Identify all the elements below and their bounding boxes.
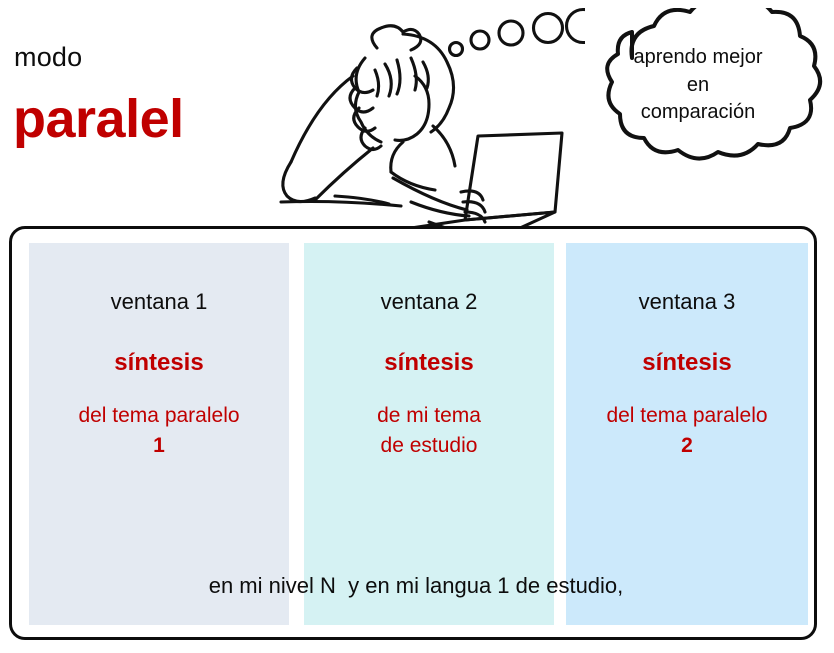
window-2-desc-line-1: de mi tema	[304, 401, 554, 431]
frame-footnote: en mi nivel N y en mi langua 1 de estudi…	[12, 501, 820, 653]
page-title: paralel	[13, 92, 184, 146]
thought-bubble-line-1: aprendo mejor	[600, 44, 796, 72]
mode-label: modo	[14, 44, 82, 71]
thought-bubble-text: aprendo mejor en comparación	[600, 44, 796, 127]
window-1-desc-line-2: 1	[29, 431, 289, 461]
slide-root: modo paralel	[0, 0, 834, 653]
window-1-synthesis-label: síntesis	[29, 351, 289, 375]
windows-columns: ventana 1 síntesis del tema paralelo 1 v…	[12, 229, 814, 637]
window-2-synthesis-label: síntesis	[304, 351, 554, 375]
window-1-heading: ventana 1	[29, 291, 289, 313]
thought-bubble-line-2: en	[600, 72, 796, 100]
window-2-heading: ventana 2	[304, 291, 554, 313]
window-3-desc-line-2: 2	[566, 431, 808, 461]
window-3-desc-line-1: del tema paralelo	[566, 401, 808, 431]
footnote-line-1: en mi nivel N y en mi langua 1 de estudi…	[12, 569, 820, 603]
window-3-description: del tema paralelo 2	[566, 401, 808, 461]
window-1-description: del tema paralelo 1	[29, 401, 289, 461]
window-3-synthesis-label: síntesis	[566, 351, 808, 375]
window-2-description: de mi tema de estudio	[304, 401, 554, 461]
window-3-heading: ventana 3	[566, 291, 808, 313]
window-2-desc-line-2: de estudio	[304, 431, 554, 461]
thought-bubble-line-3: comparación	[600, 99, 796, 127]
windows-frame: ventana 1 síntesis del tema paralelo 1 v…	[9, 226, 817, 640]
window-1-desc-line-1: del tema paralelo	[29, 401, 289, 431]
person-at-laptop-illustration	[265, 6, 585, 228]
